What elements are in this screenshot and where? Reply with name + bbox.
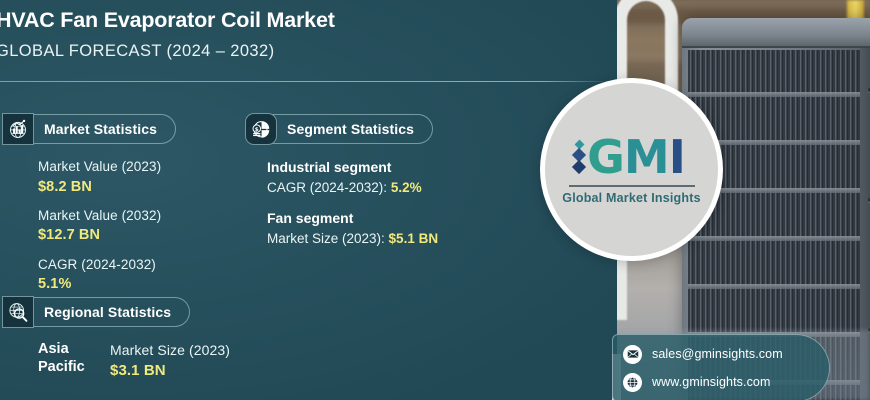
region-name: Asia Pacific (38, 340, 110, 376)
bar-chart-globe-icon (2, 113, 34, 145)
logo-tagline: Global Market Insights (562, 191, 700, 205)
market-value-2032-value: $12.7 BN (38, 225, 176, 245)
contact-website-row[interactable]: www.gminsights.com (623, 371, 819, 393)
segment-statistics-label: Segment Statistics (271, 114, 433, 144)
industrial-segment-label: CAGR (2024-2032): (267, 180, 391, 195)
header-divider (0, 81, 603, 82)
regional-statistics-body: Asia Pacific Market Size (2023) $3.1 BN (2, 340, 230, 381)
fan-segment-line: Market Size (2023): $5.1 BN (267, 229, 438, 249)
region-market-size-value: $3.1 BN (110, 360, 230, 381)
regional-statistics-header: Regional Statistics (2, 296, 230, 328)
market-statistics-body: Market Value (2023) $8.2 BN Market Value… (2, 157, 176, 295)
logo-divider (569, 185, 695, 187)
page-title: HVAC Fan Evaporator Coil Market (0, 8, 614, 34)
industrial-segment-title: Industrial segment (267, 157, 438, 178)
logo-letter-g: G (587, 130, 624, 184)
market-value-2023-value: $8.2 BN (38, 177, 176, 197)
fin-band (688, 236, 860, 241)
segment-statistics-section: $ Segment Statistics Industrial segment … (245, 113, 438, 250)
market-value-2023-label: Market Value (2023) (38, 157, 176, 177)
fan-segment-value: $5.1 BN (389, 231, 439, 246)
fin-band (688, 284, 860, 289)
condenser-unit-top (682, 18, 870, 48)
industrial-segment-line: CAGR (2024-2032): 5.2% (267, 178, 438, 198)
logo-letter-i: I (669, 130, 685, 184)
gmi-diamond-icon (574, 141, 584, 174)
globe-search-icon (2, 296, 34, 328)
regional-statistics-label: Regional Statistics (28, 297, 190, 327)
svg-text:$: $ (255, 127, 259, 133)
region-name-line2: Pacific (38, 358, 110, 376)
segment-statistics-header: $ Segment Statistics (245, 113, 438, 145)
contact-email-row[interactable]: sales@gminsights.com (623, 343, 819, 365)
market-statistics-label: Market Statistics (28, 114, 176, 144)
fan-segment-title: Fan segment (267, 208, 438, 229)
market-statistics-header: Market Statistics (2, 113, 176, 145)
fan-segment-label: Market Size (2023): (267, 231, 389, 246)
fin-band (688, 92, 860, 97)
contact-bar: sales@gminsights.com www.gminsights.com (612, 334, 830, 400)
header: HVAC Fan Evaporator Coil Market GLOBAL F… (0, 8, 614, 61)
market-statistics-section: Market Statistics Market Value (2023) $8… (2, 113, 176, 295)
cagr-value: 5.1% (38, 274, 176, 294)
segment-statistics-body: Industrial segment CAGR (2024-2032): 5.2… (245, 157, 438, 250)
infographic-canvas: HVAC Fan Evaporator Coil Market GLOBAL F… (0, 0, 870, 400)
regional-statistics-section: Regional Statistics Asia Pacific Market … (2, 296, 230, 381)
market-value-2032-label: Market Value (2032) (38, 206, 176, 226)
gmi-logo-mark: GMI (574, 134, 685, 180)
industrial-segment-value: 5.2% (391, 180, 422, 195)
region-name-line1: Asia (38, 340, 110, 358)
envelope-icon (623, 345, 642, 364)
region-stats: Market Size (2023) $3.1 BN (110, 340, 230, 381)
cagr-label: CAGR (2024-2032) (38, 255, 176, 275)
gmi-logo: GMI Global Market Insights (540, 78, 723, 261)
pie-chart-dollar-icon: $ (245, 113, 277, 145)
logo-letter-m: M (624, 130, 669, 184)
contact-website-text: www.gminsights.com (652, 375, 771, 389)
globe-icon (623, 373, 642, 392)
diamond-shape (572, 160, 586, 174)
gmi-logo-letters: GMI (587, 134, 685, 180)
page-subtitle: GLOBAL FORECAST (2024 – 2032) (0, 42, 614, 61)
contact-email-text: sales@gminsights.com (652, 347, 783, 361)
region-market-size-label: Market Size (2023) (110, 340, 230, 360)
